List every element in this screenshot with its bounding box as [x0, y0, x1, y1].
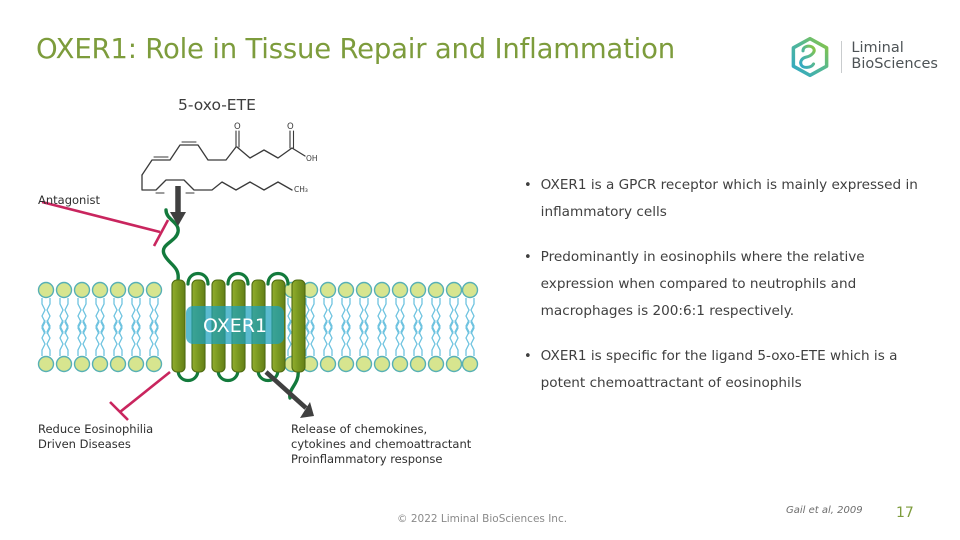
molecule-caption: 5-oxo-ETE	[178, 96, 256, 114]
logo-wordmark: Liminal BioSciences	[851, 41, 938, 72]
reduce-eosinophilia-line-1: Reduce Eosinophilia	[38, 422, 153, 437]
ketone-oxygen-label: O	[234, 122, 241, 132]
footer-page-number: 17	[896, 505, 914, 521]
reduce-eosinophilia-line-2: Driven Diseases	[38, 437, 153, 452]
antagonist-inhibition-arrow-icon	[42, 202, 168, 246]
carboxyl-oxygen-label: O	[287, 122, 294, 132]
hydroxyl-label: OH	[306, 154, 318, 163]
bullet-dot-icon: •	[524, 172, 532, 226]
receptor-label-text: OXER1	[203, 315, 267, 337]
logo-divider	[841, 41, 842, 73]
bullet-text: OXER1 is specific for the ligand 5-oxo-E…	[541, 343, 930, 397]
antagonist-label: Antagonist	[38, 193, 100, 207]
reduce-eosinophilia-arrow-icon	[110, 372, 170, 420]
logo-line-1: Liminal	[851, 41, 938, 57]
brand-logo: Liminal BioSciences	[788, 36, 938, 78]
release-mediators-label: Release of chemokines, cytokines and che…	[291, 422, 471, 467]
bullet-text: Predominantly in eosinophils where the r…	[541, 244, 930, 325]
liminal-hexagon-logo-icon	[788, 36, 832, 78]
bullet-text: OXER1 is a GPCR receptor which is mainly…	[541, 172, 930, 226]
reduce-eosinophilia-label: Reduce Eosinophilia Driven Diseases	[38, 422, 153, 452]
release-mediators-arrow-icon	[266, 372, 314, 418]
release-mediators-line-2: cytokines and chemoattractant	[291, 437, 471, 452]
oxer1-mechanism-diagram: 5-oxo-ETE	[0, 0, 520, 500]
bullet-dot-icon: •	[524, 343, 532, 397]
lipid-bilayer-right	[285, 283, 478, 372]
bullet-list: • OXER1 is a GPCR receptor which is main…	[524, 172, 930, 415]
footer-reference: Gail et al, 2009	[786, 505, 863, 516]
bullet-dot-icon: •	[524, 244, 532, 325]
list-item: • OXER1 is specific for the ligand 5-oxo…	[524, 343, 930, 397]
slide: OXER1: Role in Tissue Repair and Inflamm…	[0, 0, 960, 540]
release-mediators-line-3: Proinflammatory response	[291, 452, 471, 467]
list-item: • Predominantly in eosinophils where the…	[524, 244, 930, 325]
release-mediators-line-1: Release of chemokines,	[291, 422, 471, 437]
lipid-bilayer-left	[39, 283, 162, 372]
footer-copyright: © 2022 Liminal BioSciences Inc.	[397, 513, 567, 525]
logo-line-2: BioSciences	[851, 57, 938, 73]
list-item: • OXER1 is a GPCR receptor which is main…	[524, 172, 930, 226]
